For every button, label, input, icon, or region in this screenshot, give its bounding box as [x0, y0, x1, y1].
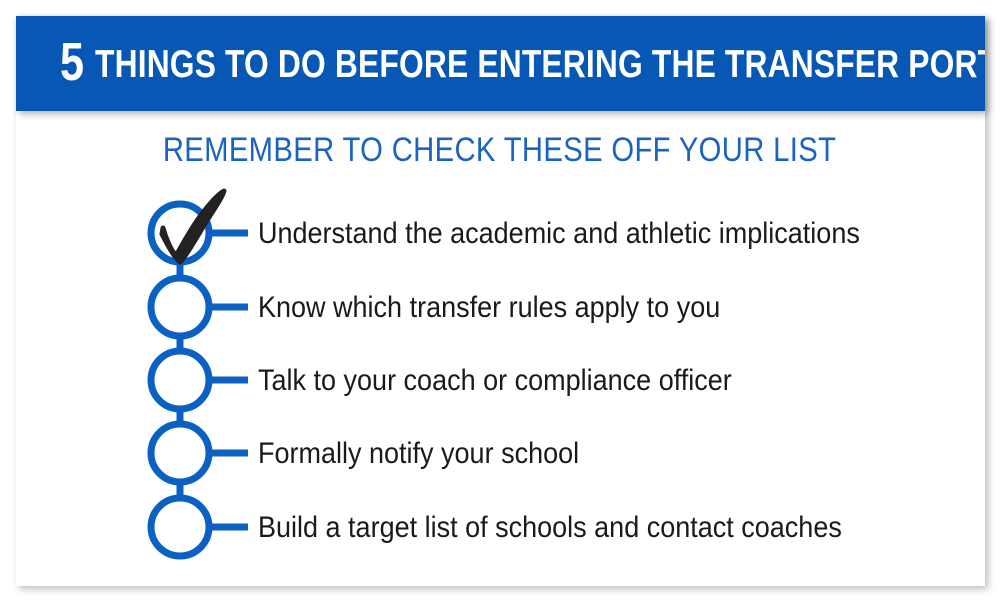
list-item[interactable]: Understand the academic and athletic imp… [258, 219, 927, 249]
list-item-label: Talk to your coach or compliance officer [258, 366, 732, 396]
list-item-label: Understand the academic and athletic imp… [258, 219, 860, 249]
list-item[interactable]: Know which transfer rules apply to you [258, 293, 772, 323]
list-item-label: Know which transfer rules apply to you [258, 293, 720, 323]
infographic-root: 5 THINGS TO DO BEFORE ENTERING THE TRANS… [0, 0, 1000, 604]
list-item[interactable]: Talk to your coach or compliance officer [258, 366, 784, 396]
checklist-items: Understand the academic and athletic imp… [0, 0, 1000, 604]
list-item-label: Build a target list of schools and conta… [258, 513, 842, 543]
list-item-label: Formally notify your school [258, 439, 579, 469]
list-item[interactable]: Formally notify your school [258, 439, 615, 469]
list-item[interactable]: Build a target list of schools and conta… [258, 513, 907, 543]
